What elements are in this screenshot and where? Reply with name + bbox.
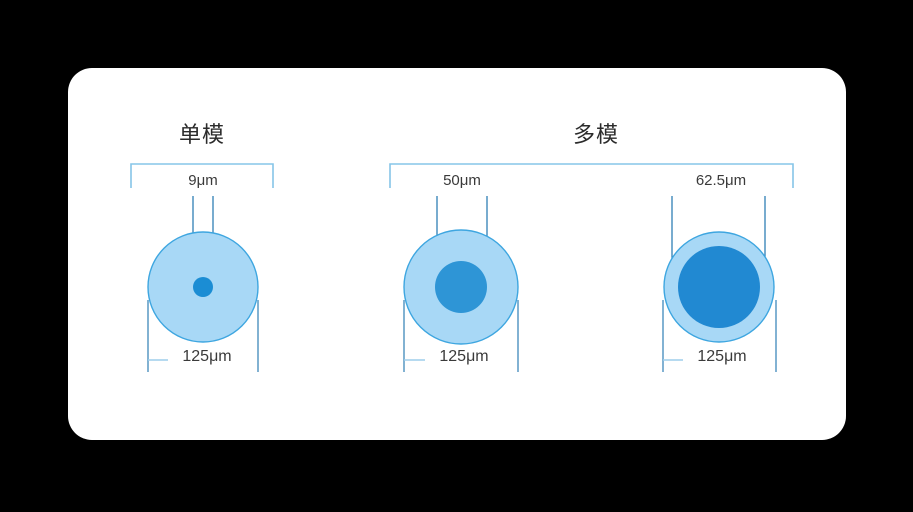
cladding-label-125um-1: 125μm: [425, 348, 503, 366]
group-title-multi-mode: 多模: [400, 117, 792, 149]
cladding-label-125um-2: 125μm: [683, 348, 761, 366]
core-circle: [678, 246, 760, 328]
diagram-canvas: 单模 多模 9μm 50μm 62.5μm 125μm 125μm 125μm: [0, 0, 913, 512]
core-circle: [193, 277, 213, 297]
fiber-cross-section-graphics: [0, 0, 913, 512]
core-label-50um: 50μm: [407, 172, 517, 189]
cladding-label-125um-0: 125μm: [168, 348, 246, 366]
core-label-62_5um: 62.5μm: [663, 172, 779, 189]
group-title-single-mode: 单模: [128, 117, 276, 149]
core-label-9um: 9μm: [148, 172, 258, 189]
fiber-62_5um: [663, 196, 776, 372]
core-circle: [435, 261, 487, 313]
fiber-9um: [148, 196, 258, 372]
fiber-50um: [404, 196, 518, 372]
